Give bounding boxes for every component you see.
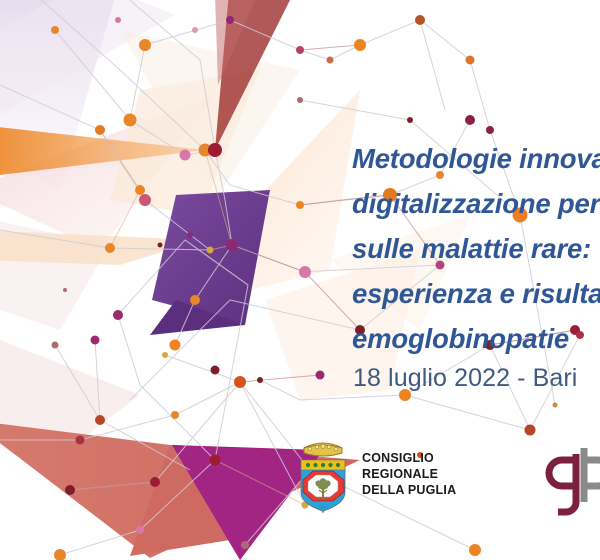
- title-line-1: Metodologie innovative di: [352, 136, 600, 181]
- gb-logo: [540, 440, 600, 518]
- consiglio-regionale-text: CONSIGLIO REGIONALE DELLA PUGLIA: [362, 450, 509, 498]
- consiglio-line-2: DELLA PUGLIA: [362, 482, 509, 498]
- title-line-2: digitalizzazione per la ricerca: [352, 181, 600, 226]
- consiglio-line-1: CONSIGLIO REGIONALE: [362, 450, 509, 482]
- puglia-crest-icon: [294, 434, 352, 514]
- gb-logo-letter-g: [549, 454, 576, 512]
- consiglio-regionale-logo: CONSIGLIO REGIONALE DELLA PUGLIA: [294, 434, 509, 514]
- poster-canvas: Metodologie innovative di digitalizzazio…: [0, 0, 600, 560]
- event-date-location: 18 luglio 2022 - Bari: [353, 364, 577, 393]
- title-line-4: esperienza e risultati nelle: [352, 271, 600, 316]
- title-line-5: emoglobinopatie: [352, 316, 600, 361]
- gb-logo-letter-b: [584, 448, 600, 502]
- title-line-3: sulle malattie rare:: [352, 226, 600, 271]
- event-title: Metodologie innovative di digitalizzazio…: [352, 136, 600, 361]
